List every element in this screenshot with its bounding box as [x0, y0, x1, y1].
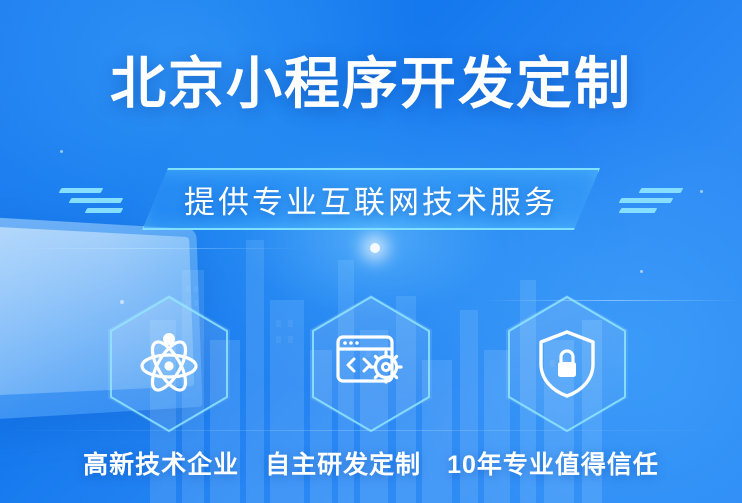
light-streak-left — [0, 248, 300, 249]
promo-banner: 北京小程序开发定制 提供专业互联网技术服务 — [0, 0, 742, 503]
feature-captions: 高新技术企业 自主研发定制 10年专业值得信任 — [0, 445, 742, 481]
feature-hexagon-3 — [506, 295, 628, 433]
spark-dot — [60, 150, 63, 153]
feature-caption-2: 自主研发定制 — [265, 445, 421, 481]
subtitle-text: 提供专业互联网技术服务 — [142, 168, 600, 230]
center-flare — [370, 243, 380, 253]
page-title: 北京小程序开发定制 — [0, 52, 742, 116]
ribbon-deco-left-icon — [60, 184, 130, 214]
feature-hexagon-1 — [108, 295, 230, 433]
feature-hexagon-2 — [310, 295, 432, 433]
code-window-gear-icon — [310, 331, 432, 397]
feature-caption-1: 高新技术企业 — [83, 445, 239, 481]
feature-icon-row — [0, 295, 742, 425]
feature-caption-3: 10年专业值得信任 — [447, 445, 659, 481]
subtitle-ribbon: 提供专业互联网技术服务 — [0, 168, 742, 240]
atom-icon — [108, 328, 230, 400]
ribbon-deco-right-icon — [612, 184, 682, 214]
spark-dot — [640, 270, 643, 273]
shield-lock-icon — [506, 328, 628, 400]
ribbon-frame: 提供专业互联网技术服务 — [142, 168, 600, 230]
